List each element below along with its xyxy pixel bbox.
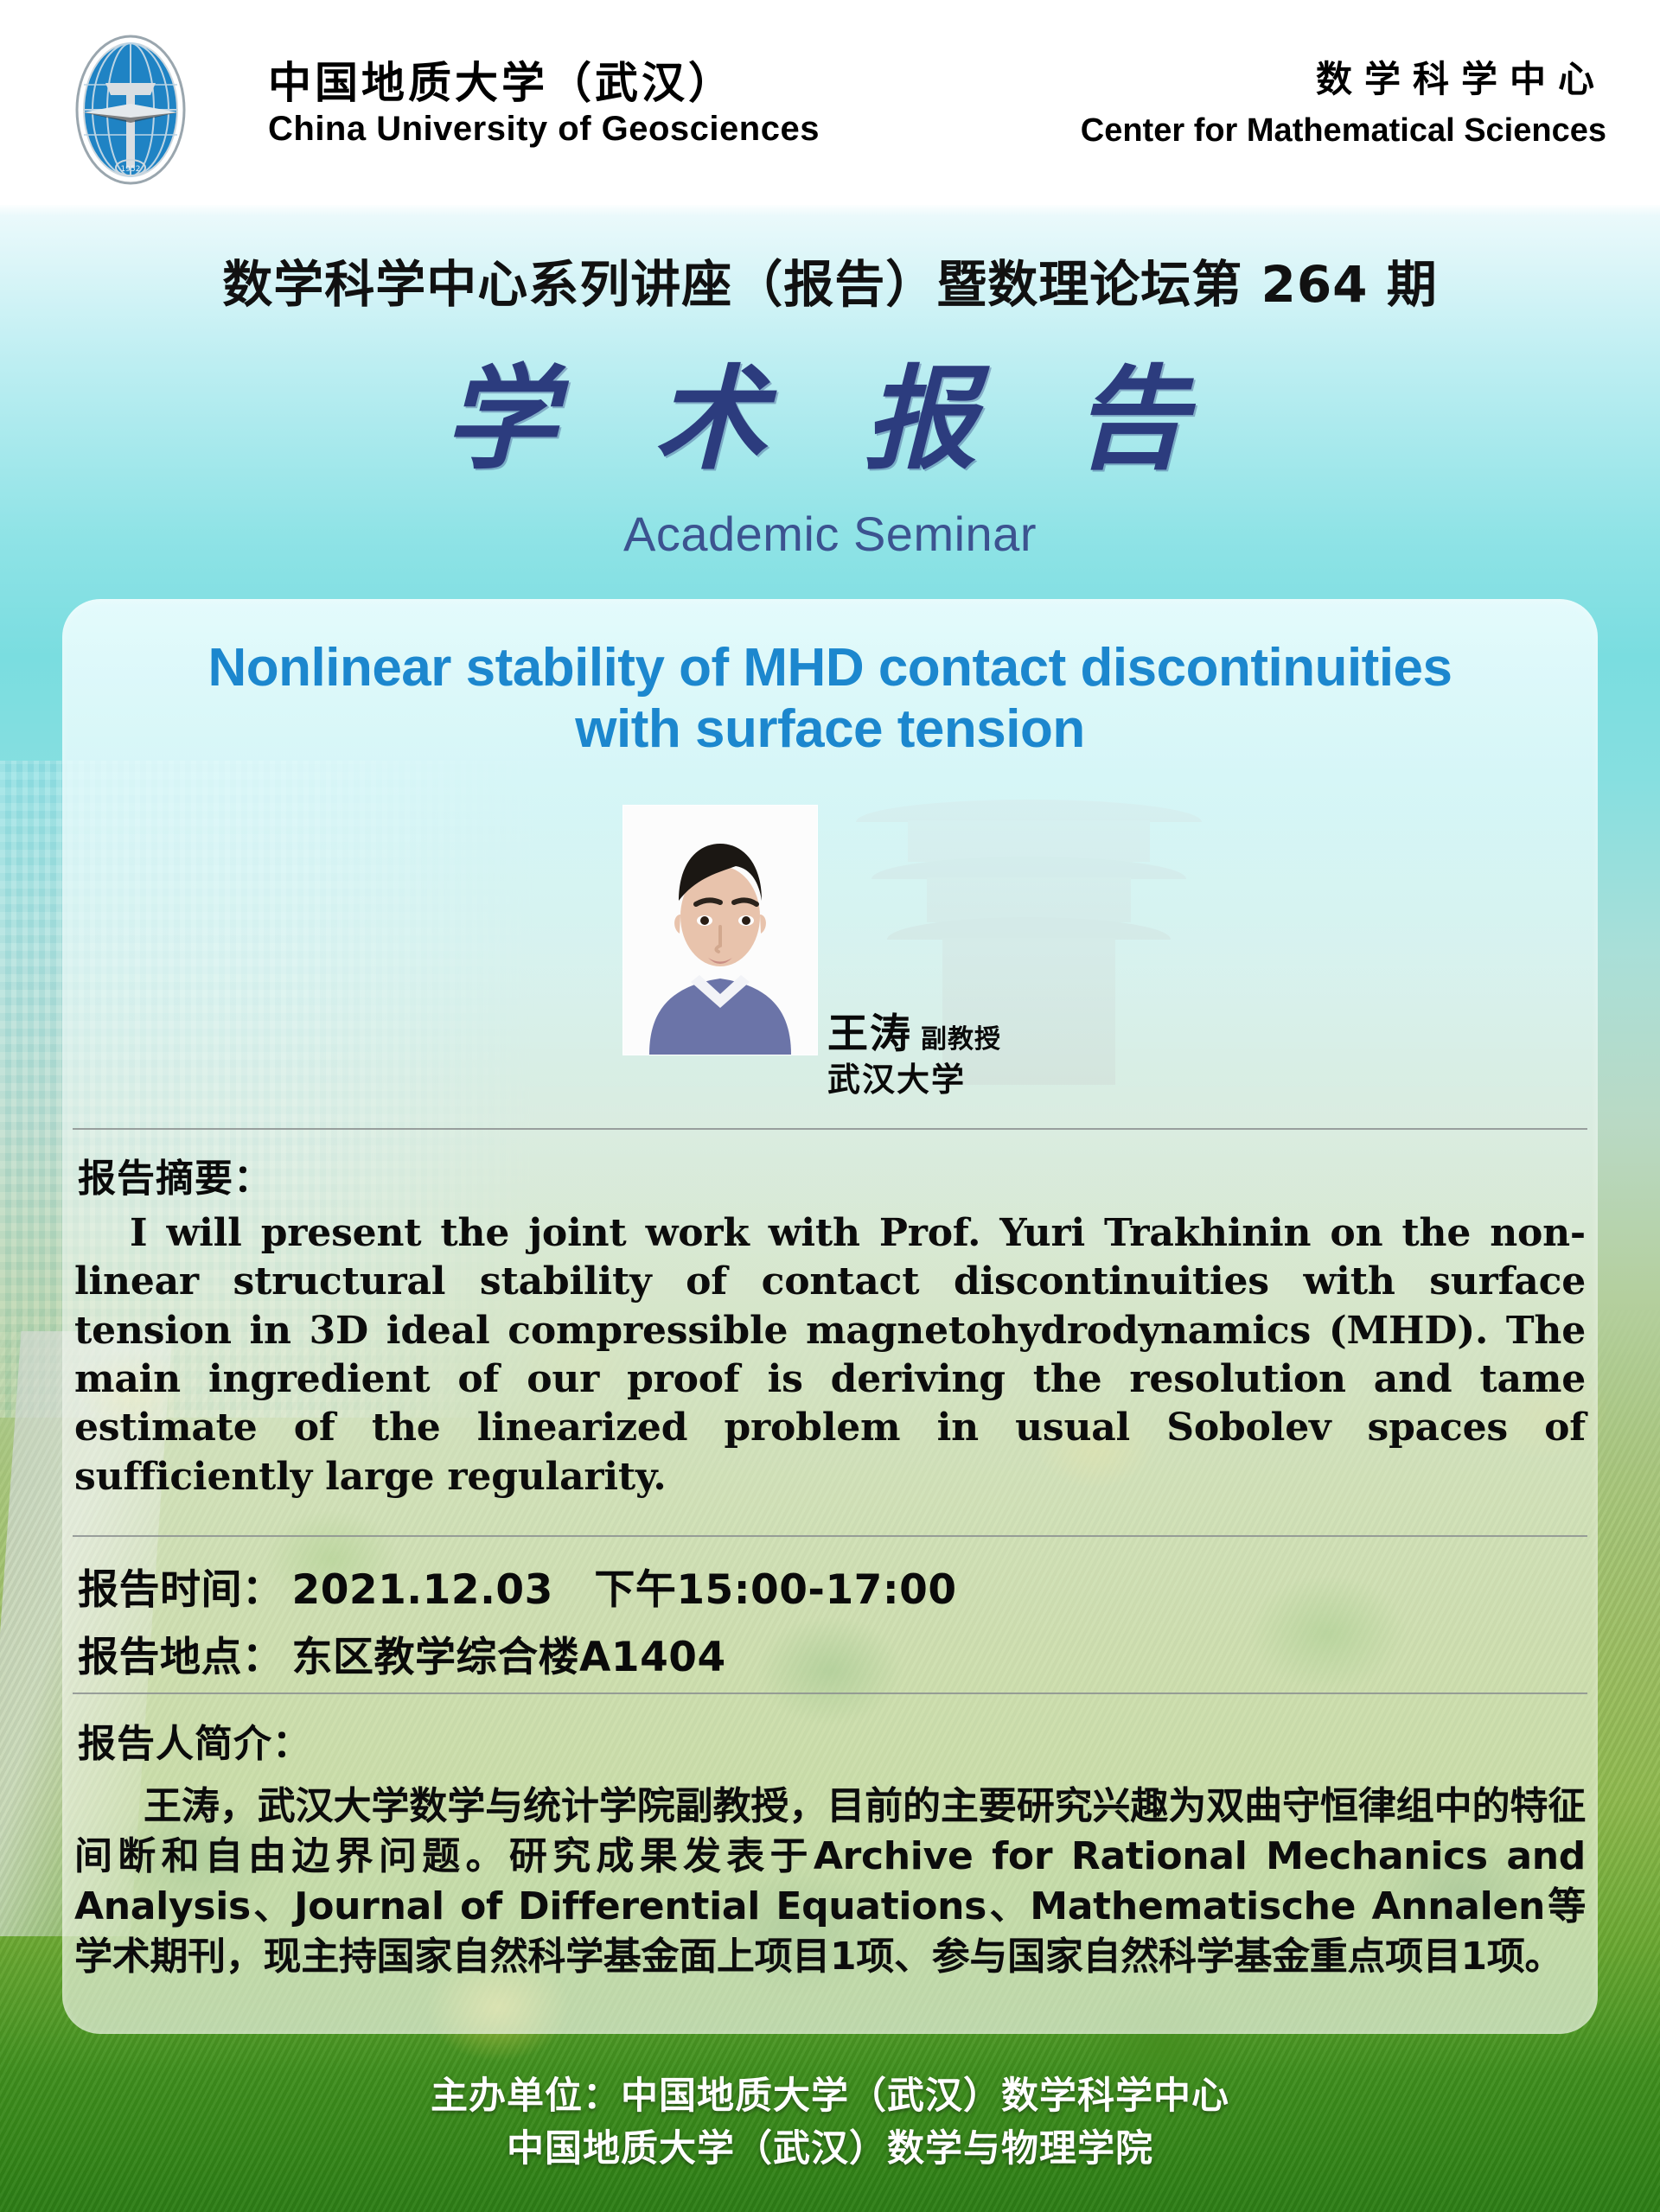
speaker-rank: 副教授 [921,1024,1001,1055]
university-name-en: China University of Geosciences [268,110,820,149]
organizer-line-1: 主办单位：中国地质大学（武汉）数学科学中心 [0,2070,1660,2123]
svg-text:1952: 1952 [121,165,141,174]
center-name-cn: 数学科学中心 [1316,50,1606,103]
content-card: Nonlinear stability of MHD contact disco… [62,599,1598,2034]
speaker-affiliation: 武汉大学 [827,1053,966,1100]
talk-time-label: 报告时间： [78,1566,284,1614]
divider-bio [73,1692,1587,1694]
talk-time-row: 报告时间：2021.12.03 下午15:00-17:00 [78,1556,957,1616]
seminar-subtitle-en: Academic Seminar [0,506,1660,562]
abstract-body: I will present the joint work with Prof.… [74,1209,1586,1501]
calligraphy-heading: 学 术 报 告 [0,359,1660,480]
speaker-name: 王涛副教授 [827,1000,1001,1060]
talk-title-line2: with surface tension [105,699,1555,761]
center-name-en: Center for Mathematical Sciences [1081,112,1606,150]
series-title: 数学科学中心系列讲座（报告）暨数理论坛第 264 期 [0,244,1660,316]
talk-title: Nonlinear stability of MHD contact disco… [105,638,1555,760]
speaker-name-text: 王涛 [827,1010,912,1058]
cug-university-seal-icon: 1952 [54,33,207,187]
speaker-portrait-photo [622,805,816,1054]
abstract-label: 报告摘要： [78,1147,272,1202]
talk-place-label: 报告地点： [78,1634,284,1681]
bio-label: 报告人简介： [78,1712,311,1768]
divider-meta [73,1535,1587,1537]
organizer-line-2: 中国地质大学（武汉）数学与物理学院 [0,2123,1660,2176]
seminar-poster: 1952 中国地质大学（武汉） China University of Geos… [0,0,1660,2212]
talk-title-line1: Nonlinear stability of MHD contact disco… [105,638,1555,699]
talk-time-value: 2021.12.03 下午15:00-17:00 [292,1566,957,1614]
bio-body: 王涛，武汉大学数学与统计学院副教授，目前的主要研究兴趣为双曲守恒律组中的特征间断… [74,1782,1586,1982]
organizer-footer: 主办单位：中国地质大学（武汉）数学科学中心 中国地质大学（武汉）数学与物理学院 [0,2070,1660,2176]
university-name-cn: 中国地质大学（武汉） [268,48,735,111]
talk-place-value: 东区教学综合楼A1404 [292,1634,726,1681]
poster-header: 1952 中国地质大学（武汉） China University of Geos… [0,0,1660,205]
divider-abstract [73,1128,1587,1130]
talk-place-row: 报告地点：东区教学综合楼A1404 [78,1623,726,1683]
